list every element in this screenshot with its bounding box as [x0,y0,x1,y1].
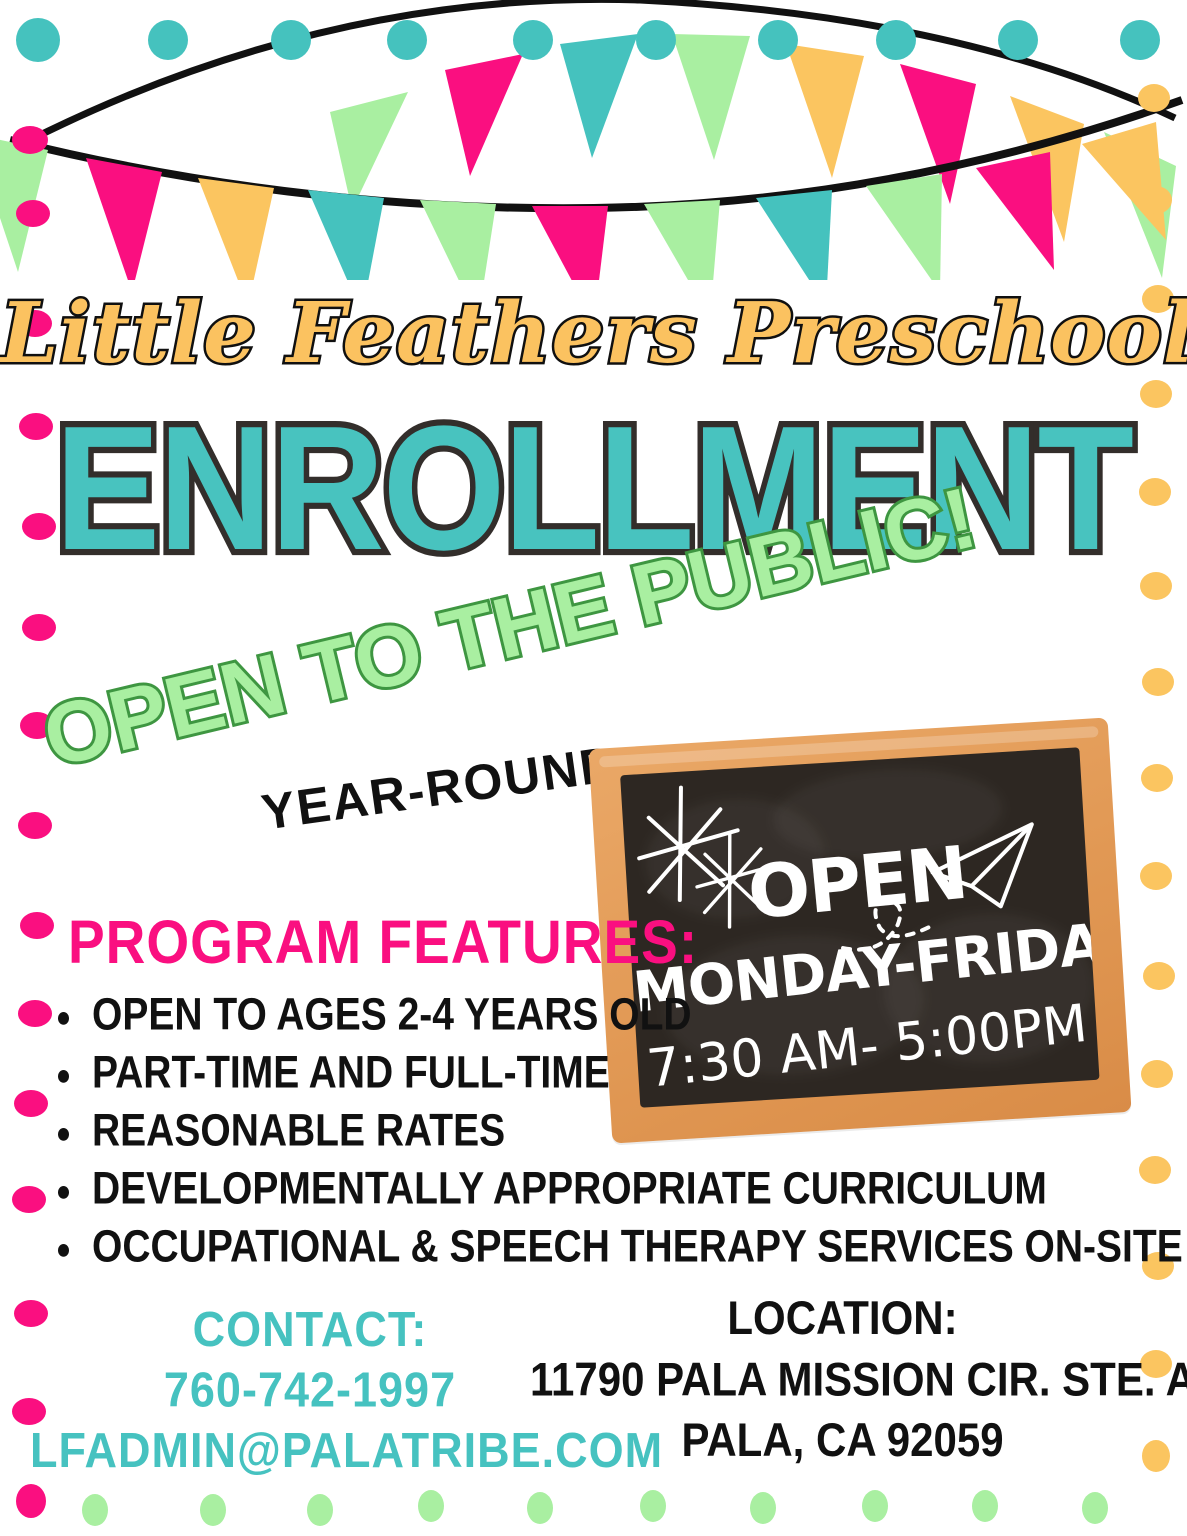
decor-dot [200,1494,226,1526]
decor-dot [18,812,52,839]
year-round-label: YEAR-ROUND [258,734,621,841]
decor-dot [16,1484,46,1518]
decor-dot [750,1492,776,1524]
location-address-line1: 11790 PALA MISSION CIR. STE. A [530,1349,1155,1410]
list-item: PART-TIME AND FULL-TIME [36,1048,1096,1099]
enrollment-headline: ENROLLMENT [0,400,1187,577]
decor-dot [640,1490,666,1522]
decor-dot [16,200,50,227]
bunting-string-upper [30,0,1175,140]
list-item: DEVELOPMENTALLY APPROPRIATE CURRICULUM [36,1164,1096,1215]
bunting-flags-upper [330,34,1176,278]
list-item: OPEN TO AGES 2-4 YEARS OLD [36,990,1096,1041]
top-dots [16,18,1160,62]
decor-dot [1139,1156,1171,1184]
contact-label: CONTACT: [30,1300,590,1360]
decor-dot [1142,668,1174,696]
contact-block: CONTACT: 760-742-1997 LFADMIN@PALATRIBE.… [30,1300,590,1481]
decor-dot [22,614,56,641]
decor-dot [1140,862,1172,890]
list-item: OCCUPATIONAL & SPEECH THERAPY SERVICES O… [36,1222,1096,1273]
decor-dot [1141,1060,1173,1088]
program-features-list: OPEN TO AGES 2-4 YEARS OLD PART-TIME AND… [36,990,1096,1280]
decor-dot [862,1490,888,1522]
bunting-svg [0,0,1187,280]
bunting-flags-lower [0,122,1166,280]
decor-dot [1138,84,1170,112]
location-address-line2: PALA, CA 92059 [530,1410,1155,1471]
decor-dot [527,1492,553,1524]
page-title: Little Feathers Preschool [0,284,1187,382]
decor-dot [1141,764,1173,792]
decor-dot [972,1490,998,1522]
contact-email[interactable]: LFADMIN@PALATRIBE.COM [30,1421,590,1481]
program-features-heading: PROGRAM FEATURES: [68,906,698,978]
list-item: REASONABLE RATES [36,1106,1096,1157]
decor-dot [1140,186,1172,214]
decor-dot [1082,1492,1108,1524]
flyer-page: Little Feathers Preschool ENROLLMENT OPE… [0,0,1187,1536]
contact-phone[interactable]: 760-742-1997 [30,1360,590,1420]
location-block: LOCATION: 11790 PALA MISSION CIR. STE. A… [530,1288,1155,1471]
bunting-decoration [0,0,1187,280]
decor-dot [12,126,48,154]
decor-dot [82,1494,108,1526]
location-label: LOCATION: [530,1288,1155,1349]
bunting-string-lower [10,100,1182,208]
decor-dot [1143,962,1175,990]
decor-dot [418,1490,444,1522]
decor-dot [307,1494,333,1526]
decor-dot [20,912,54,939]
